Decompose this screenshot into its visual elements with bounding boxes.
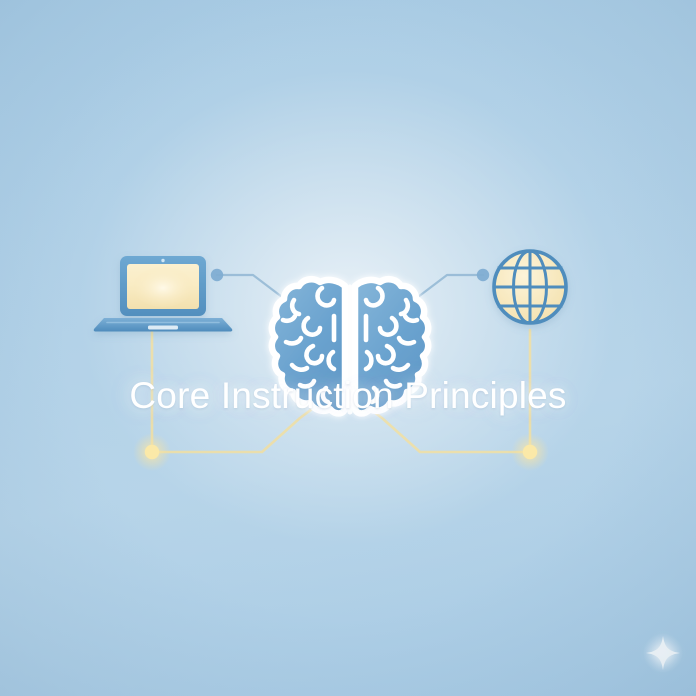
sparkle-icon — [643, 633, 683, 673]
node-globe-link — [477, 269, 489, 281]
connector-right-node-to-brain — [366, 406, 530, 452]
node-left — [145, 445, 159, 459]
connector-left-node-to-brain — [152, 406, 316, 452]
brain-icon — [272, 279, 428, 413]
illustration-canvas: Core Instruction Principles — [0, 0, 696, 696]
laptop-webcam-icon — [161, 259, 164, 262]
laptop-trackpad — [148, 326, 178, 330]
node-laptop-link — [211, 269, 223, 281]
laptop-icon — [94, 256, 233, 332]
laptop-screen-glow — [133, 267, 193, 307]
globe-icon — [494, 251, 566, 323]
node-right — [523, 445, 537, 459]
illustration-artwork — [0, 0, 696, 696]
